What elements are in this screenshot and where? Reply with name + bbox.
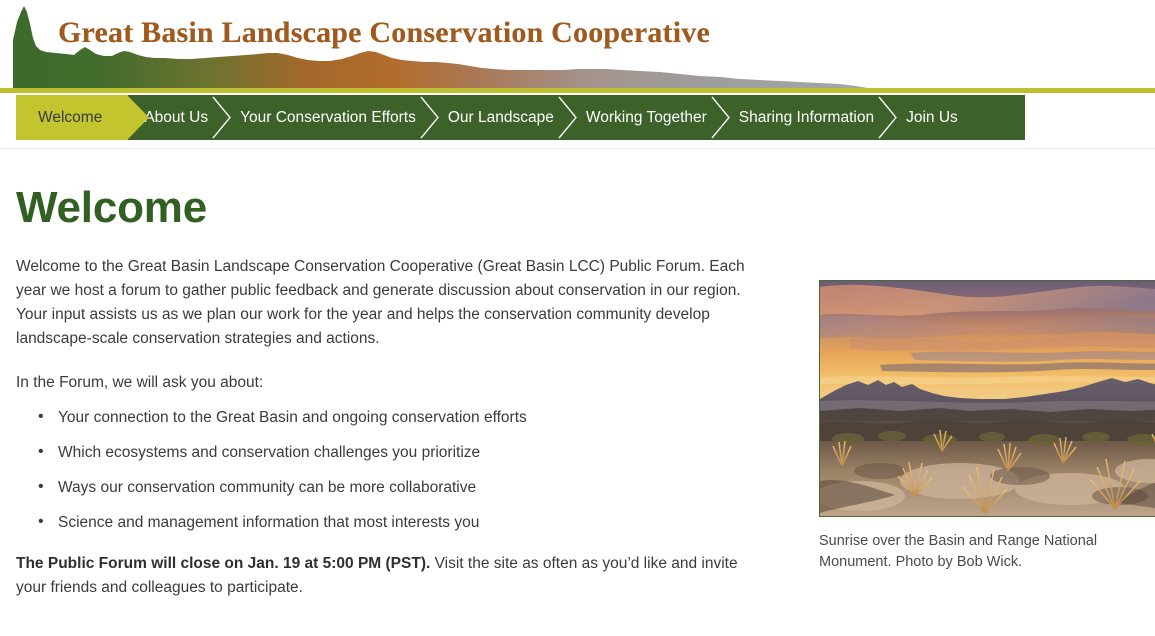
nav-item-sharing-information[interactable]: Sharing Information (723, 95, 890, 140)
page-root: Great Basin Landscape Conservation Coope… (0, 0, 1155, 636)
nav-item-your-conservation-efforts-label: Your Conservation Efforts (240, 95, 416, 140)
photo-frame (819, 280, 1155, 517)
nav-item-welcome-label: Welcome (38, 95, 102, 140)
forum-topics-list: Your connection to the Great Basin and o… (16, 407, 746, 534)
nav-item-join-us[interactable]: Join Us (890, 95, 974, 140)
photo-caption: Sunrise over the Basin and Range Nationa… (819, 531, 1119, 573)
main-content: Welcome Welcome to the Great Basin Lands… (0, 149, 1155, 636)
nav-item-join-us-label: Join Us (906, 95, 958, 140)
nav-item-our-landscape[interactable]: Our Landscape (432, 95, 570, 140)
list-item: Which ecosystems and conservation challe… (38, 442, 746, 464)
nav-item-sharing-information-label: Sharing Information (739, 95, 874, 140)
nav-active-chevron-icon (127, 95, 149, 140)
nav-item-your-conservation-efforts[interactable]: Your Conservation Efforts (224, 95, 432, 140)
site-title: Great Basin Landscape Conservation Coope… (58, 16, 710, 50)
forum-deadline-text: The Public Forum will close on Jan. 19 a… (16, 555, 430, 572)
nav-item-working-together[interactable]: Working Together (570, 95, 723, 140)
list-item: Science and management information that … (38, 512, 746, 534)
nav-item-welcome[interactable]: Welcome (16, 95, 128, 140)
landscape-figure: Sunrise over the Basin and Range Nationa… (819, 280, 1155, 573)
list-intro-paragraph: In the Forum, we will ask you about: (16, 371, 746, 395)
content-top-rule (0, 148, 1155, 149)
main-navigation: Welcome About Us Your Conservation Effor… (16, 95, 1025, 140)
list-item: Your connection to the Great Basin and o… (38, 407, 746, 429)
nav-item-our-landscape-label: Our Landscape (448, 95, 554, 140)
nav-item-about-us-label: About Us (144, 95, 208, 140)
content-column-left: Welcome Welcome to the Great Basin Lands… (16, 185, 746, 620)
page-title: Welcome (16, 185, 746, 231)
closing-paragraph: The Public Forum will close on Jan. 19 a… (16, 552, 746, 600)
banner-divider-rule (0, 88, 1155, 93)
list-item: Ways our conservation community can be m… (38, 477, 746, 499)
nav-item-working-together-label: Working Together (586, 95, 707, 140)
site-banner: Great Basin Landscape Conservation Coope… (0, 0, 1155, 90)
intro-paragraph: Welcome to the Great Basin Landscape Con… (16, 255, 746, 351)
sunrise-landscape-photo (820, 281, 1155, 516)
